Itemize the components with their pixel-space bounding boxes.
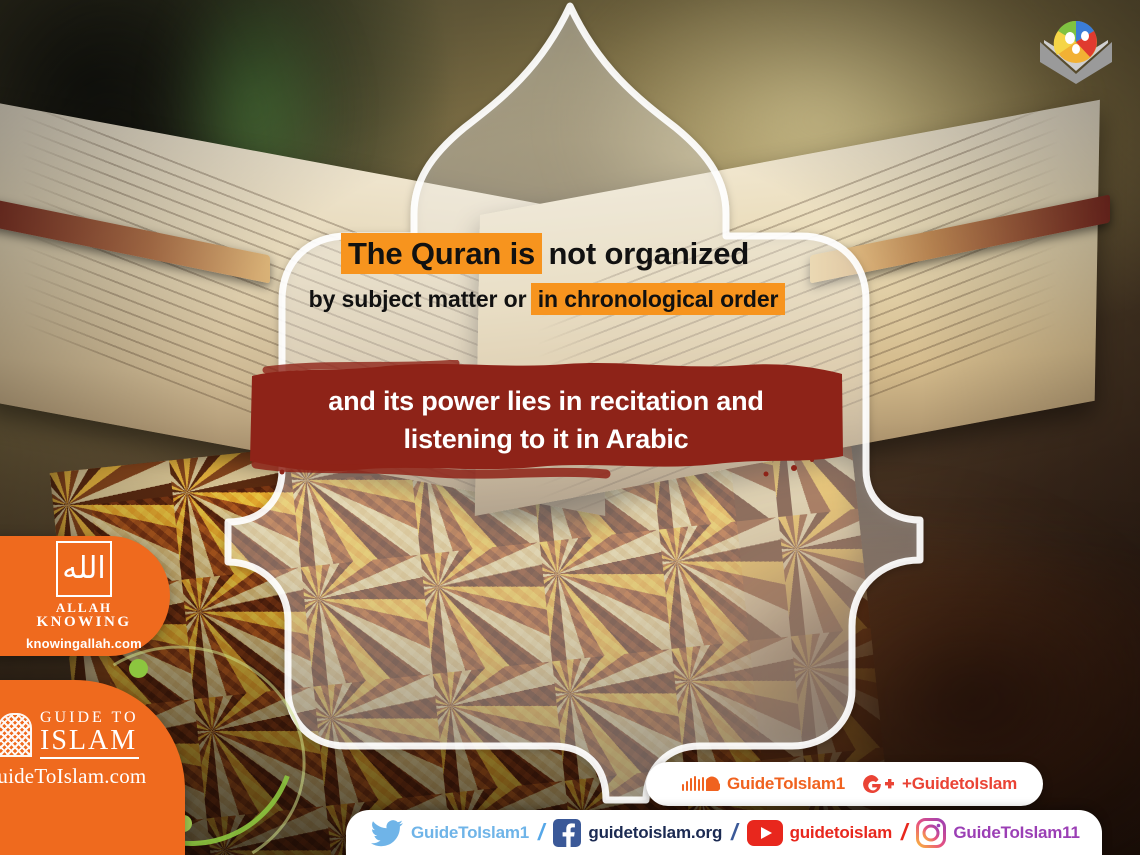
- knowing-allah-logo[interactable]: الله ALLAH KNOWING knowingallah.com: [0, 536, 170, 656]
- brush-quote-line-1: and its power lies in recitation and: [246, 382, 846, 420]
- poster-canvas: The Quran is not organized by subject ma…: [0, 0, 1140, 855]
- headline-plain-2: by subject matter or: [309, 286, 533, 312]
- brush-speck-1: [791, 465, 797, 471]
- facebook-handle[interactable]: guidetoislam.org: [588, 823, 722, 843]
- globe-eye-bottom: [1072, 44, 1080, 54]
- social-separator-3: /: [901, 819, 907, 846]
- headline-highlight-1: The Quran is: [343, 235, 540, 272]
- guide-to-islam-title-line-1: GUIDE TO: [40, 710, 139, 726]
- youtube-handle[interactable]: guidetoislam: [790, 823, 892, 843]
- headline-line-1: The Quran is not organized: [246, 236, 846, 273]
- knowing-allah-title: ALLAH KNOWING: [36, 601, 131, 630]
- social-item-soundcloud[interactable]: GuideToIslam1: [682, 774, 845, 794]
- globe-eye-right: [1081, 31, 1089, 41]
- brush-quote-block: and its power lies in recitation and lis…: [246, 360, 846, 486]
- headline-plain-1: not organized: [540, 236, 749, 271]
- social-separator-1: /: [538, 819, 544, 846]
- social-bar-top: GuideToIslam1 +GuidetoIslam: [646, 762, 1043, 806]
- twitter-handle[interactable]: GuideToIslam1: [411, 823, 529, 843]
- brush-quote-line-2: listening to it in Arabic: [246, 420, 846, 458]
- social-item-twitter[interactable]: GuideToIslam1: [370, 819, 529, 847]
- social-item-instagram[interactable]: GuideToIslam11: [916, 818, 1079, 848]
- globe-eye-left: [1065, 32, 1075, 44]
- social-item-facebook[interactable]: guidetoislam.org: [553, 819, 722, 847]
- guide-to-islam-url[interactable]: GuideToIslam.com: [0, 764, 146, 789]
- social-separator-2: /: [731, 819, 737, 846]
- soundcloud-handle[interactable]: GuideToIslam1: [727, 774, 845, 794]
- green-dot-decoration: [129, 659, 148, 678]
- youtube-icon: [747, 820, 783, 846]
- knowing-allah-url[interactable]: knowingallah.com: [26, 636, 142, 651]
- knowing-allah-title-line-2: KNOWING: [36, 615, 131, 631]
- soundcloud-icon: [682, 774, 720, 794]
- brush-speck-4: [280, 470, 285, 475]
- googleplus-handle[interactable]: +GuidetoIslam: [902, 774, 1017, 794]
- social-item-youtube[interactable]: guidetoislam: [747, 820, 892, 846]
- social-bar-bottom: GuideToIslam1 / guidetoislam.org / guide…: [346, 810, 1102, 855]
- instagram-icon: [916, 818, 946, 848]
- brush-speck-3: [764, 472, 769, 477]
- guide-to-islam-mark: GUIDE TO ISLAM: [0, 710, 139, 759]
- guide-to-islam-title-line-2: ISLAM: [40, 727, 139, 759]
- googleplus-icon: [861, 772, 895, 796]
- allah-calligraphy-box: الله: [56, 541, 112, 597]
- social-item-googleplus[interactable]: +GuidetoIslam: [861, 772, 1017, 796]
- facebook-icon: [553, 819, 581, 847]
- headline-highlight-2: in chronological order: [533, 285, 784, 313]
- instagram-handle[interactable]: GuideToIslam11: [953, 823, 1079, 843]
- guide-to-islam-wordmark: GUIDE TO ISLAM: [40, 710, 139, 759]
- mosque-arch-icon: [0, 713, 32, 757]
- globe-book-logo[interactable]: [1030, 14, 1122, 86]
- headline-block: The Quran is not organized by subject ma…: [246, 236, 846, 314]
- allah-calligraphy-glyph: الله: [62, 554, 106, 584]
- twitter-icon: [370, 819, 404, 847]
- headline-line-2: by subject matter or in chronological or…: [246, 285, 846, 315]
- brush-quote-text: and its power lies in recitation and lis…: [246, 382, 846, 459]
